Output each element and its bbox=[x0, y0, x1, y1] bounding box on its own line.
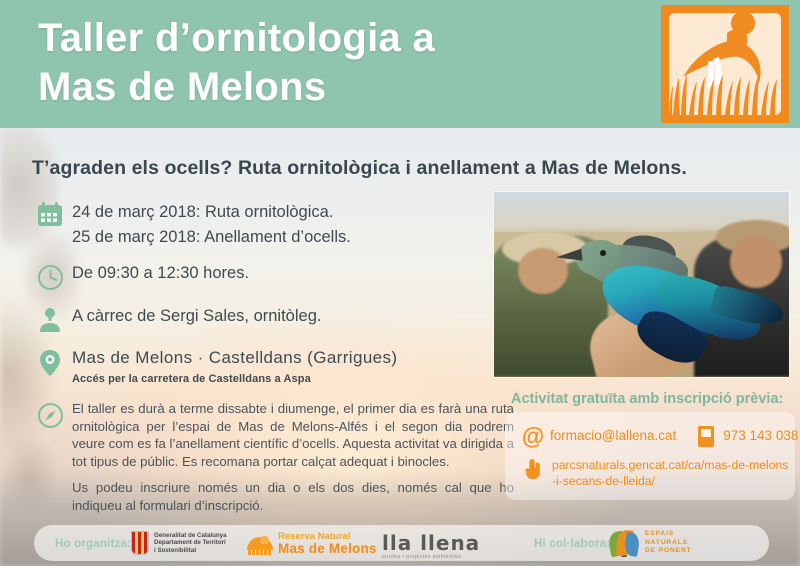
contact-email[interactable]: formacio@lallena.cat bbox=[550, 428, 676, 444]
info-description-text: El taller es durà a terme dissabte i diu… bbox=[72, 400, 514, 514]
logo-espais-naturals-de-ponent: ESPAIS NATURALS DE PONENT bbox=[609, 530, 692, 556]
clock-icon bbox=[28, 262, 72, 291]
mobile-phone-icon bbox=[698, 426, 714, 447]
place-access-note: Accés per la carretera de Castelldans a … bbox=[72, 371, 498, 387]
compass-icon bbox=[28, 400, 72, 429]
bustard-logo-svg bbox=[669, 13, 781, 115]
espais-naturals-mark-icon bbox=[609, 530, 639, 556]
info-dates-text: 24 de març 2018: Ruta ornitològica. 25 d… bbox=[72, 200, 498, 250]
gencat-line-3: i Sostenibilitat bbox=[154, 547, 196, 554]
map-pin-icon bbox=[28, 347, 72, 377]
bird-photo bbox=[494, 192, 789, 377]
reserva-line-2: Mas de Melons bbox=[278, 542, 377, 556]
footer-collaborator-label: Hi col·labora: bbox=[534, 538, 610, 550]
footer-organizer-label: Ho organitza: bbox=[55, 538, 131, 550]
logo-reserva-natural-mas-de-melons: Reserva Natural Mas de Melons bbox=[247, 532, 377, 556]
person-icon bbox=[28, 305, 72, 333]
gencat-line-1: Generalitat de Catalunya bbox=[154, 532, 227, 539]
calendar-icon bbox=[28, 200, 72, 228]
info-place-text: Mas de Melons · Castelldans (Garrigues) … bbox=[72, 347, 498, 387]
page-title: Taller d’ornitologia a Mas de Melons bbox=[38, 14, 638, 112]
cta-title: Activitat gratuïta amb inscripció prèvia… bbox=[511, 390, 800, 408]
la-llena-tagline: eureka • projectes ambientals bbox=[382, 554, 480, 561]
description-paragraph-1: El taller es durà a terme dissabte i diu… bbox=[72, 400, 514, 470]
info-list: 24 de març 2018: Ruta ornitològica. 25 d… bbox=[28, 200, 498, 518]
info-row-person: A càrrec de Sergi Sales, ornitòleg. bbox=[28, 305, 498, 333]
info-time-text: De 09:30 a 12:30 hores. bbox=[72, 262, 498, 284]
gencat-line-2: Departament de Territori bbox=[154, 539, 226, 546]
logo-la-llena: lla llena eureka • projectes ambientals bbox=[382, 533, 480, 561]
at-sign-icon: @ bbox=[520, 425, 546, 448]
pointing-hand-icon bbox=[520, 458, 548, 484]
reserva-natural-mark-icon bbox=[247, 533, 273, 555]
info-row-description: El taller es durà a terme dissabte i diu… bbox=[28, 400, 498, 514]
contact-phone[interactable]: 973 143 038 bbox=[723, 428, 798, 444]
gencat-text: Generalitat de CatalunyaDepartament de T… bbox=[154, 532, 227, 555]
date-line-2: 25 de març 2018: Anellament d’ocells. bbox=[72, 225, 498, 250]
date-line-1: 24 de març 2018: Ruta ornitològica. bbox=[72, 200, 498, 225]
lead-question: T’agraden els ocells? Ruta ornitològica … bbox=[32, 156, 792, 180]
description-paragraph-2: Us podeu inscriure només un dia o els do… bbox=[72, 479, 514, 514]
bustard-bird-in-grass-logo-icon bbox=[661, 5, 789, 123]
logo-generalitat-de-catalunya: Generalitat de CatalunyaDepartament de T… bbox=[131, 531, 227, 555]
place-title: Mas de Melons · Castelldans (Garrigues) bbox=[72, 347, 498, 369]
la-llena-wordmark: lla llena bbox=[382, 533, 480, 553]
info-row-dates: 24 de març 2018: Ruta ornitològica. 25 d… bbox=[28, 200, 498, 250]
info-row-place: Mas de Melons · Castelldans (Garrigues) … bbox=[28, 347, 498, 387]
gencat-shield-icon bbox=[131, 531, 149, 555]
espais-naturals-text: ESPAIS NATURALS DE PONENT bbox=[645, 530, 692, 555]
poster: Taller d’ornitologia a Mas de Melons bbox=[0, 0, 800, 566]
info-person-text: A càrrec de Sergi Sales, ornitòleg. bbox=[72, 305, 498, 327]
info-row-time: De 09:30 a 12:30 hores. bbox=[28, 262, 498, 291]
cta-link-row: parcsnaturals.gencat.cat/ca/mas-de-melon… bbox=[520, 458, 795, 489]
contact-url[interactable]: parcsnaturals.gencat.cat/ca/mas-de-melon… bbox=[552, 458, 788, 489]
header-banner: Taller d’ornitologia a Mas de Melons bbox=[0, 0, 800, 128]
cta-contact-row: @ formacio@lallena.cat 973 143 038 bbox=[520, 423, 800, 449]
